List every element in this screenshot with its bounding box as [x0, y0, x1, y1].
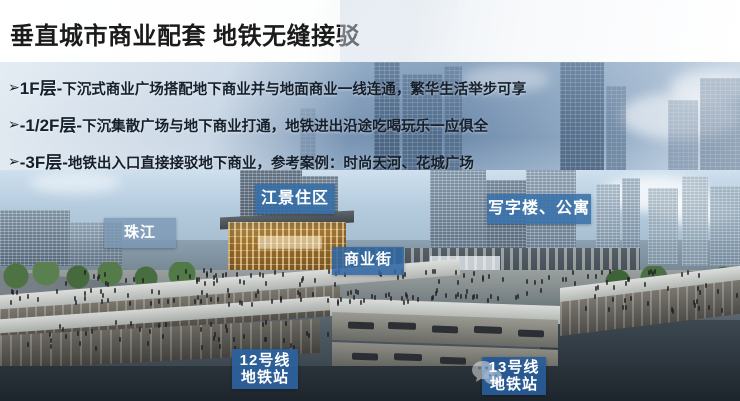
crowd-figure: [434, 269, 436, 274]
crowd-figure: [687, 270, 689, 275]
mall-signage: [258, 236, 322, 249]
parked-car: [518, 329, 544, 337]
crowd-figure: [259, 272, 261, 277]
crowd-figure: [150, 301, 152, 306]
crowd-figure: [158, 323, 160, 328]
crowd-figure: [693, 300, 695, 305]
crowd-figure: [200, 327, 202, 332]
crowd-figure: [445, 293, 447, 298]
wechat-logo-watermark: [470, 358, 504, 388]
crowd-figure: [59, 324, 61, 329]
crowd-figure: [241, 301, 243, 306]
crowd-figure: [526, 279, 528, 284]
crowd-figure: [397, 275, 399, 280]
crowd-figure: [65, 281, 67, 286]
crowd-figure: [334, 282, 336, 287]
crowd-figure: [227, 288, 229, 293]
crowd-figure: [56, 289, 58, 294]
bullet-lead-neg-half-f: -1/2F层: [20, 116, 77, 135]
crowd-figure: [162, 334, 164, 339]
crowd-figure: [630, 296, 632, 301]
crowd-figure: [219, 344, 221, 349]
crowd-figure: [37, 297, 39, 302]
crowd-figure: [125, 278, 127, 283]
cloud-shape: [30, 172, 120, 194]
crowd-figure: [647, 301, 649, 306]
bullet-emphasis-cases: 参考案例：时尚天河、花城广场: [271, 156, 474, 170]
crowd-figure: [200, 299, 202, 304]
crowd-figure: [77, 331, 79, 336]
crowd-figure: [624, 298, 626, 303]
crowd-figure: [196, 279, 198, 284]
crowd-figure: [328, 269, 330, 274]
crowd-figure: [16, 290, 18, 295]
crowd-figure: [85, 331, 87, 336]
crowd-figure: [119, 337, 121, 342]
crowd-figure: [681, 272, 683, 277]
crowd-figure: [93, 274, 95, 279]
crowd-figure: [721, 308, 723, 313]
crowd-figure: [49, 332, 51, 337]
crowd-figure: [497, 296, 499, 301]
crowd-figure: [79, 341, 81, 346]
crowd-figure: [151, 289, 153, 294]
crowd-figure: [19, 296, 21, 301]
crowd-figure: [285, 321, 287, 326]
crowd-figure: [613, 285, 615, 290]
crowd-figure: [347, 291, 349, 296]
crowd-figure: [612, 297, 614, 302]
crowd-figure: [139, 327, 141, 332]
parked-car: [388, 322, 416, 330]
crowd-figure: [65, 334, 67, 339]
crowd-figure: [717, 289, 719, 294]
crowd-figure: [482, 277, 484, 282]
crowd-figure: [282, 272, 284, 277]
crowd-figure: [625, 305, 627, 310]
crowd-figure: [609, 269, 611, 274]
crowd-figure: [213, 336, 215, 341]
crowd-figure: [465, 294, 467, 299]
crowd-figure: [371, 294, 373, 299]
crowd-figure: [243, 334, 245, 339]
crowd-figure: [385, 293, 387, 298]
crowd-figure: [736, 293, 738, 298]
parked-car: [432, 325, 458, 333]
crowd-figure: [173, 298, 175, 303]
crowd-figure: [100, 289, 102, 294]
parked-car: [394, 353, 422, 361]
crowd-figure: [210, 297, 212, 302]
crowd-figure: [407, 299, 409, 304]
crowd-figure: [50, 338, 52, 343]
crowd-figure: [654, 269, 656, 274]
crowd-figure: [488, 274, 490, 279]
crowd-figure: [98, 274, 100, 279]
crowd-figure: [460, 294, 462, 299]
crowd-figure: [280, 298, 282, 303]
crowd-figure: [622, 305, 624, 310]
page-title: 垂直城市商业配套 地铁无缝接驳: [10, 16, 360, 51]
crowd-figure: [698, 306, 700, 311]
crowd-figure: [50, 344, 52, 349]
crowd-figure: [274, 270, 276, 275]
crowd-figure: [353, 295, 355, 300]
crowd-figure: [438, 279, 440, 284]
parked-car: [348, 322, 374, 330]
rendering-building: [710, 186, 740, 266]
crowd-figure: [608, 307, 610, 312]
crowd-figure: [210, 268, 212, 273]
crowd-figure: [228, 302, 230, 307]
crowd-figure: [471, 278, 473, 283]
crowd-figure: [265, 320, 267, 325]
crowd-figure: [425, 270, 427, 275]
crowd-figure: [201, 290, 203, 295]
crowd-figure: [213, 275, 215, 280]
crowd-figure: [114, 288, 116, 293]
crowd-figure: [251, 302, 253, 307]
bullet-arrow-icon: ➢: [8, 116, 20, 132]
crowd-figure: [243, 280, 245, 285]
crowd-figure: [374, 295, 376, 300]
crowd-figure: [297, 290, 299, 295]
crowd-figure: [349, 299, 351, 304]
crowd-figure: [390, 296, 392, 301]
crowd-figure: [283, 338, 285, 343]
crowd-figure: [595, 286, 597, 291]
crowd-figure: [517, 294, 519, 299]
crowd-figure: [698, 273, 700, 278]
crowd-figure: [101, 299, 103, 304]
crowd-figure: [84, 296, 86, 301]
crowd-figure: [699, 290, 701, 295]
crowd-figure: [299, 282, 301, 287]
crowd-figure: [403, 300, 405, 305]
crowd-figure: [388, 292, 390, 297]
bullet-lead-1f: 1F层: [20, 79, 57, 98]
crowd-figure: [239, 279, 241, 284]
crowd-figure: [708, 305, 710, 310]
crowd-figure: [432, 295, 434, 300]
crowd-figure: [226, 328, 228, 333]
crowd-figure: [206, 293, 208, 298]
crowd-figure: [540, 288, 542, 293]
bullet-text-neg-half-f: 下沉集散广场与地下商业打通，地铁进出沿途吃喝玩乐一应俱全: [82, 119, 488, 135]
crowd-figure: [133, 277, 135, 282]
bullet-arrow-icon: ➢: [8, 79, 20, 95]
crowd-figure: [262, 322, 264, 327]
bullet-item-1f: ➢1F层-下沉式商业广场搭配地下商业并与地面商业一线连通，繁华生活举步可享: [8, 74, 526, 99]
crowd-figure: [534, 280, 536, 285]
label-metro-line-12-line2: 地铁站: [232, 370, 298, 387]
crowd-figure: [203, 268, 205, 273]
crowd-figure: [27, 342, 29, 347]
crowd-figure: [476, 294, 478, 299]
crowd-figure: [627, 277, 629, 282]
presentation-slide: 垂直城市商业配套 地铁无缝接驳 ➢1F层-下沉式商业广场搭配地下商业并与地面商业…: [0, 0, 740, 401]
crowd-figure: [473, 271, 475, 276]
crowd-figure: [404, 272, 406, 277]
parked-car: [440, 357, 466, 365]
crowd-figure: [185, 269, 187, 274]
crowd-figure: [262, 273, 264, 278]
crowd-figure: [104, 272, 106, 277]
bullet-arrow-icon: ➢: [8, 153, 20, 169]
river-water: [0, 366, 740, 401]
crowd-figure: [210, 322, 212, 327]
crowd-figure: [487, 298, 489, 303]
crowd-figure: [206, 273, 208, 278]
crowd-figure: [306, 331, 308, 336]
crowd-figure: [217, 297, 219, 302]
crowd-figure: [75, 300, 77, 305]
crowd-figure: [158, 299, 160, 304]
crowd-figure: [455, 270, 457, 275]
crowd-figure: [327, 332, 329, 337]
crowd-figure: [490, 294, 492, 299]
crowd-figure: [360, 300, 362, 305]
crowd-figure: [436, 288, 438, 293]
crowd-figure: [90, 288, 92, 293]
crowd-figure: [473, 294, 475, 299]
crowd-figure: [412, 295, 414, 300]
crowd-figure: [236, 272, 238, 277]
crowd-figure: [314, 278, 316, 283]
crowd-figure: [705, 283, 707, 288]
crowd-figure: [417, 297, 419, 302]
rendering-building: [648, 188, 678, 264]
crowd-figure: [457, 292, 459, 297]
crowd-figure: [250, 273, 252, 278]
crowd-figure: [565, 277, 567, 282]
crowd-figure: [222, 273, 224, 278]
architectural-rendering: [0, 170, 740, 401]
rendering-building: [0, 210, 70, 266]
crowd-figure: [12, 290, 14, 295]
crowd-figure: [84, 270, 86, 275]
label-xiezilou-gongyu: 写字楼、公寓: [487, 194, 591, 224]
crowd-figure: [257, 289, 259, 294]
crowd-figure: [95, 346, 97, 351]
crowd-figure: [27, 294, 29, 299]
crowd-figure: [650, 269, 652, 274]
crowd-figure: [216, 278, 218, 283]
crowd-figure: [350, 290, 352, 295]
crowd-figure: [337, 301, 339, 306]
crowd-figure: [667, 286, 669, 291]
crowd-figure: [585, 306, 587, 311]
crowd-figure: [107, 282, 109, 287]
label-metro-line-12: 12号线 地铁站: [232, 349, 298, 389]
crowd-figure: [129, 301, 131, 306]
crowd-figure: [502, 277, 504, 282]
crowd-figure: [201, 345, 203, 350]
crowd-figure: [225, 272, 227, 277]
crowd-figure: [601, 270, 603, 275]
crowd-figure: [290, 343, 292, 348]
crowd-figure: [572, 270, 574, 275]
crowd-figure: [340, 297, 342, 302]
crowd-figure: [671, 307, 673, 312]
crowd-figure: [696, 299, 698, 304]
bullet-band: ➢1F层-下沉式商业广场搭配地下商业并与地面商业一线连通，繁华生活举步可享 ➢-…: [0, 62, 740, 170]
crowd-figure: [158, 290, 160, 295]
crowd-figure: [167, 299, 169, 304]
crowd-figure: [587, 274, 589, 279]
crowd-figure: [327, 298, 329, 303]
crowd-figure: [177, 275, 179, 280]
label-zhujiang: 珠江: [104, 218, 176, 248]
crowd-figure: [91, 329, 93, 334]
bullet-item-neg-half-f: ➢-1/2F层-下沉集散广场与地下商业打通，地铁进出沿途吃喝玩乐一应俱全: [8, 111, 488, 136]
crowd-figure: [406, 294, 408, 299]
crowd-figure: [463, 273, 465, 278]
crowd-figure: [300, 297, 302, 302]
crowd-figure: [357, 290, 359, 295]
crowd-figure: [644, 282, 646, 287]
crowd-figure: [165, 322, 167, 327]
bullet-item-neg-3f: ➢-3F层-地铁出入口直接接驳地下商业，参考案例：时尚天河、花城广场: [8, 148, 474, 170]
crowd-figure: [102, 293, 104, 298]
crowd-figure: [213, 281, 215, 286]
crowd-figure: [115, 320, 117, 325]
crowd-figure: [595, 274, 597, 279]
crowd-figure: [107, 298, 109, 303]
crowd-figure: [204, 281, 206, 286]
crowd-figure: [142, 278, 144, 283]
parked-car: [352, 353, 378, 361]
crowd-figure: [233, 337, 235, 342]
crowd-figure: [299, 292, 301, 297]
crowd-figure: [197, 295, 199, 300]
crowd-figure: [130, 321, 132, 326]
crowd-figure: [147, 341, 149, 346]
crowd-figure: [562, 277, 564, 282]
crowd-figure: [189, 274, 191, 279]
bullet-text-neg-3f: 地铁出入口直接接驳地下商业，: [68, 156, 271, 170]
crowd-figure: [541, 279, 543, 284]
crowd-figure: [457, 280, 459, 285]
crowd-figure: [105, 281, 107, 286]
crowd-figure: [526, 291, 528, 296]
label-metro-line-12-line1: 12号线: [232, 353, 298, 370]
crowd-figure: [127, 293, 129, 298]
crowd-figure: [594, 294, 596, 299]
crowd-figure: [363, 298, 365, 303]
crowd-figure: [606, 280, 608, 285]
crowd-figure: [265, 281, 267, 286]
crowd-figure: [10, 300, 12, 305]
rendering-building: [682, 176, 708, 266]
crowd-figure: [218, 337, 220, 342]
crowd-figure: [597, 285, 599, 290]
crowd-figure: [198, 277, 200, 282]
bullet-list: ➢1F层-下沉式商业广场搭配地下商业并与地面商业一线连通，繁华生活举步可享 ➢-…: [0, 62, 740, 170]
crowd-figure: [301, 278, 303, 283]
crowd-figure: [194, 299, 196, 304]
crowd-figure: [84, 291, 86, 296]
label-shangyejie: 商业街: [332, 247, 404, 275]
crowd-figure: [62, 327, 64, 332]
bullet-lead-neg-3f: -3F层: [20, 153, 63, 170]
crowd-figure: [548, 275, 550, 280]
parked-car: [474, 326, 502, 334]
bullet-text-1f: 下沉式商业广场搭配地下商业并与地面商业一线连通，繁华生活举步可享: [62, 82, 526, 98]
crowd-figure: [312, 292, 314, 297]
crowd-figure: [308, 333, 310, 338]
crowd-figure: [149, 329, 151, 334]
title-band: 垂直城市商业配套 地铁无缝接驳: [0, 0, 740, 62]
crowd-figure: [228, 293, 230, 298]
crowd-figure: [271, 299, 273, 304]
label-jiangjing-zhuqu: 江景住区: [255, 184, 335, 214]
crowd-figure: [574, 281, 576, 286]
crowd-figure: [265, 337, 267, 342]
